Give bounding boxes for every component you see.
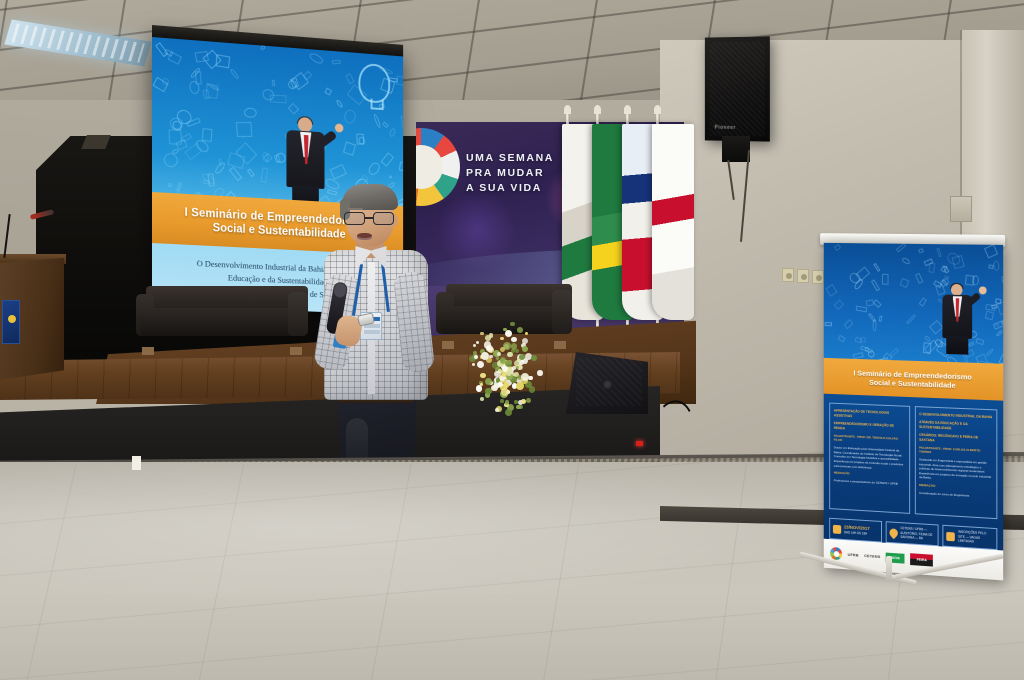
stage-sofa-left xyxy=(140,286,302,348)
banner-left-heading-0: APRESENTAÇÃO DE TECNOLOGIAS ASSISTIVAS xyxy=(834,409,905,422)
banner-location-detail: CETENS / UFRB — AUDITÓRIO, FEIRA DE SANT… xyxy=(900,526,935,541)
banner-left-footer-label: MEDIAÇÃO: xyxy=(834,471,850,476)
banner-left-body: Doutor em Educação pela Universidade Fed… xyxy=(834,445,905,471)
banner-tech-graphic xyxy=(824,243,1003,366)
presenter-hair xyxy=(342,184,398,210)
logo-cetens: CETENS xyxy=(864,553,880,559)
wall-mounted-speaker: Pioneer xyxy=(705,36,770,141)
ticket-icon xyxy=(947,531,956,540)
rollup-banner: I Seminário de Empreendedorismo Social e… xyxy=(807,241,1011,601)
banner-right-heading-2: CENÁRIOS: RECÔNCAVO E FEIRA DE SANTANA xyxy=(919,433,992,446)
flower-arrangement xyxy=(462,312,546,416)
speaker-brand-label: Pioneer xyxy=(715,125,736,131)
banner-right-footer-label: MEDIAÇÃO: xyxy=(919,483,936,488)
wall-switch[interactable] xyxy=(132,456,141,470)
stage-floor-monitor xyxy=(566,352,648,414)
banner-tripod-base xyxy=(790,560,1010,626)
backdrop-slogan-1: PRA MUDAR xyxy=(466,167,554,179)
wall-outlet-1[interactable] xyxy=(782,268,794,282)
banner-date-detail: DAS 14H ÀS 18H xyxy=(844,530,867,535)
wall-vent xyxy=(950,196,972,222)
banner-right-heading-0: O DESENVOLVIMENTO INDUSTRIAL DA BAHIA xyxy=(919,412,992,420)
backdrop-slogan-2: A SUA VIDA xyxy=(466,182,554,194)
eyeglasses-icon xyxy=(344,212,396,225)
banner-left-panel: APRESENTAÇÃO DE TECNOLOGIAS ASSISTIVAS E… xyxy=(829,403,909,515)
banner-right-panel: O DESENVOLVIMENTO INDUSTRIAL DA BAHIA AT… xyxy=(914,406,997,519)
banner-registration-detail: INSCRIÇÕES PELO SITE — VAGAS LIMITADAS xyxy=(958,530,993,546)
calendar-icon xyxy=(833,524,841,533)
flag-institution xyxy=(652,124,694,320)
banner-left-footer-text: Professores e pesquisadores do CETENS / … xyxy=(834,478,905,486)
location-pin-icon xyxy=(887,526,899,538)
banner-right-footer-text: Coordenação do curso de Engenharia xyxy=(919,491,992,500)
auditorium-scene: I Seminário de Empreendedorismo Social e… xyxy=(0,0,1024,680)
logo-ufrb: UFRB xyxy=(848,552,859,558)
flag-group xyxy=(556,112,680,344)
stage-power-indicator xyxy=(636,441,643,446)
backdrop-slogan-0: UMA SEMANA xyxy=(466,152,554,164)
banner-left-heading-1: EMPREENDEDORISMO E GERAÇÃO DE RENDA xyxy=(834,421,905,434)
banner-businessman-illustration xyxy=(941,284,974,354)
banner-title-band: I Seminário de Empreendedorismo Social e… xyxy=(824,358,1003,401)
banner-title-line2: Social e Sustentabilidade xyxy=(869,378,955,390)
banner-right-body: Graduado em Engenharia e especialista em… xyxy=(919,457,992,484)
podium-logo-plaque xyxy=(2,300,20,344)
backdrop-slogan: UMA SEMANA PRA MUDAR A SUA VIDA xyxy=(466,152,554,194)
speaker-mount-bracket xyxy=(722,136,750,162)
banner-right-heading-1: ATRAVÉS DA EDUCAÇÃO E DA SUSTENTABILIDAD… xyxy=(919,420,992,433)
banner-content: APRESENTAÇÃO DE TECNOLOGIAS ASSISTIVAS E… xyxy=(824,396,1003,527)
banner-print: I Seminário de Empreendedorismo Social e… xyxy=(824,243,1003,581)
